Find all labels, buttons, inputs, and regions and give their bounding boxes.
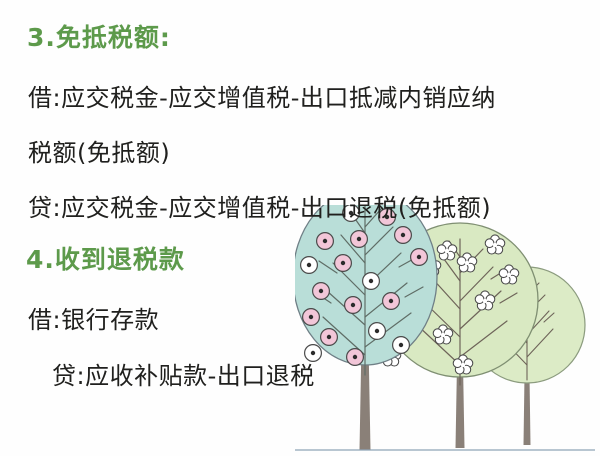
- entry-credit-line-1: 贷:应交税金-应交增值税-出口退税(免抵额): [28, 188, 491, 223]
- entry-credit-line-2: 贷:应收补贴款-出口退税: [52, 356, 315, 391]
- entry-debit-line-1: 借:应交税金-应交增值税-出口抵减内销应纳: [28, 78, 496, 113]
- note-text-block: 3.免抵税额: 借:应交税金-应交增值税-出口抵减内销应纳 税额(免抵额) 贷:…: [0, 0, 600, 456]
- entry-debit-line-2: 税额(免抵额): [28, 133, 170, 168]
- slide-canvas: 3.免抵税额: 借:应交税金-应交增值税-出口抵减内销应纳 税额(免抵额) 贷:…: [0, 0, 600, 456]
- entry-debit-line-3: 借:银行存款: [28, 300, 159, 335]
- section-heading-4: 4.收到退税款: [26, 240, 185, 276]
- section-heading-3: 3.免抵税额:: [27, 18, 171, 54]
